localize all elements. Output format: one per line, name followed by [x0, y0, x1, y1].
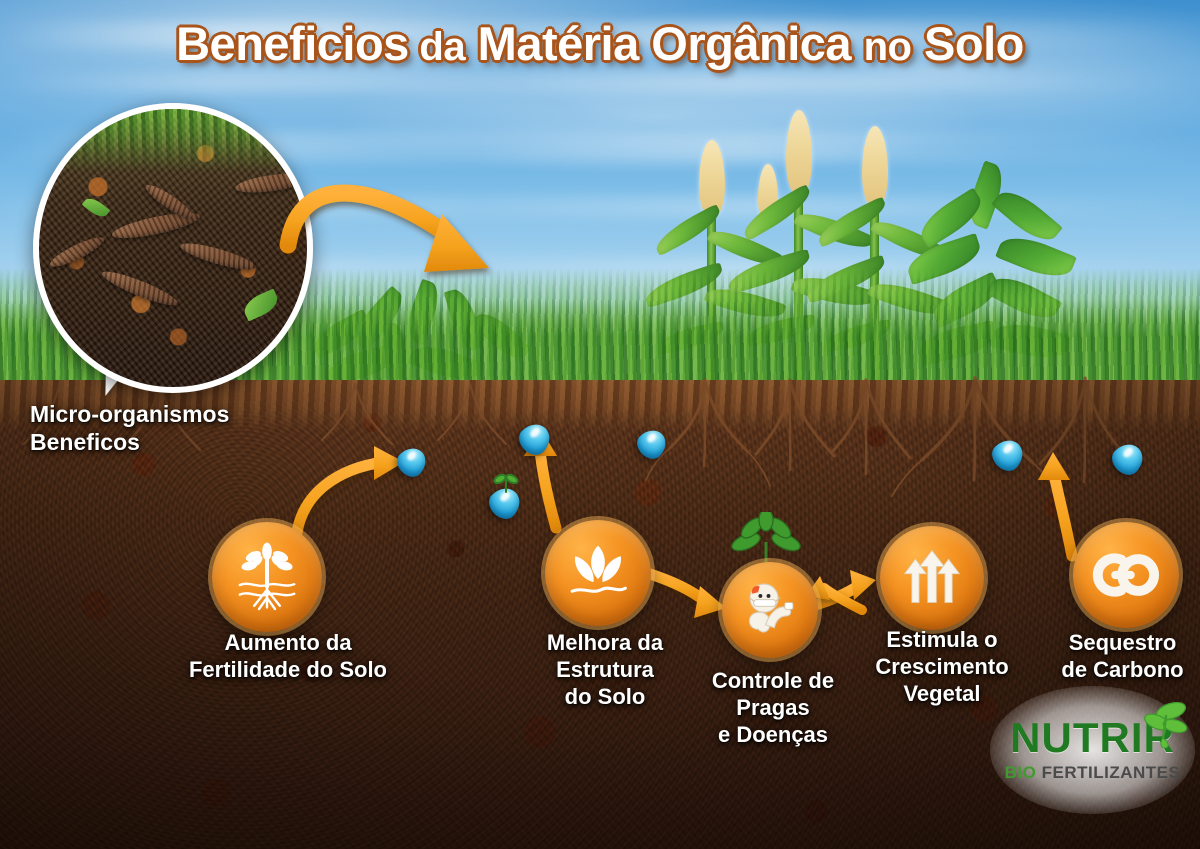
three-leaves-soil-icon	[560, 535, 636, 611]
page-title: Beneficios da Matéria Orgânica no Solo	[0, 16, 1200, 71]
plant-with-roots-icon	[227, 537, 307, 617]
benefit-label-carbono: Sequestro de Carbono	[1040, 630, 1200, 684]
sprout-on-droplet-icon	[492, 472, 520, 494]
magnifier-grass	[39, 109, 307, 171]
earthworm	[178, 239, 257, 275]
three-up-arrows-icon	[896, 542, 968, 614]
callout-label: Micro-organismos Beneficos	[30, 400, 280, 456]
logo-tagline-bio: BIO	[1005, 763, 1037, 782]
logo-tagline: BIO FERTILIZANTES	[1005, 763, 1181, 783]
benefit-label-pragas: Controle de Pragas e Doenças	[688, 668, 858, 748]
leaf-sprout-icon	[1139, 698, 1189, 750]
earthworm	[47, 233, 107, 272]
title-word-1: Beneficios	[176, 17, 409, 70]
carbon-cycle-co-icon	[1088, 537, 1164, 613]
leaf-fragment	[240, 289, 281, 322]
benefit-icon-estrutura[interactable]	[545, 520, 651, 626]
benefit-label-crescimento: Estimula o Crescimento Vegetal	[852, 627, 1032, 707]
leaf-fragment	[82, 194, 110, 220]
benefit-icon-crescimento[interactable]	[880, 526, 984, 630]
earthworm	[99, 266, 181, 311]
benefit-icon-fertilidade[interactable]	[212, 522, 322, 632]
benefit-icon-pragas[interactable]	[722, 562, 818, 658]
worm-mascot-icon	[733, 573, 807, 647]
earthworm	[234, 170, 310, 196]
benefit-label-fertilidade: Aumento da Fertilidade do Solo	[168, 630, 408, 684]
logo-tagline-rest: FERTILIZANTES	[1036, 763, 1180, 782]
title-word-4: no	[864, 25, 912, 69]
benefit-label-estrutura: Melhora da Estrutura do Solo	[510, 630, 700, 710]
title-word-3: Matéria Orgânica	[478, 17, 851, 70]
title-word-5: Solo	[924, 17, 1024, 70]
magnifier-soil-circle[interactable]	[33, 103, 313, 393]
brand-logo[interactable]: NUTRIR BIO FERTILIZANTES	[1000, 700, 1185, 800]
benefit-icon-carbono[interactable]	[1073, 522, 1179, 628]
infographic-canvas: Beneficios da Matéria Orgânica no Solo M…	[0, 0, 1200, 849]
title-word-2: da	[419, 25, 465, 69]
